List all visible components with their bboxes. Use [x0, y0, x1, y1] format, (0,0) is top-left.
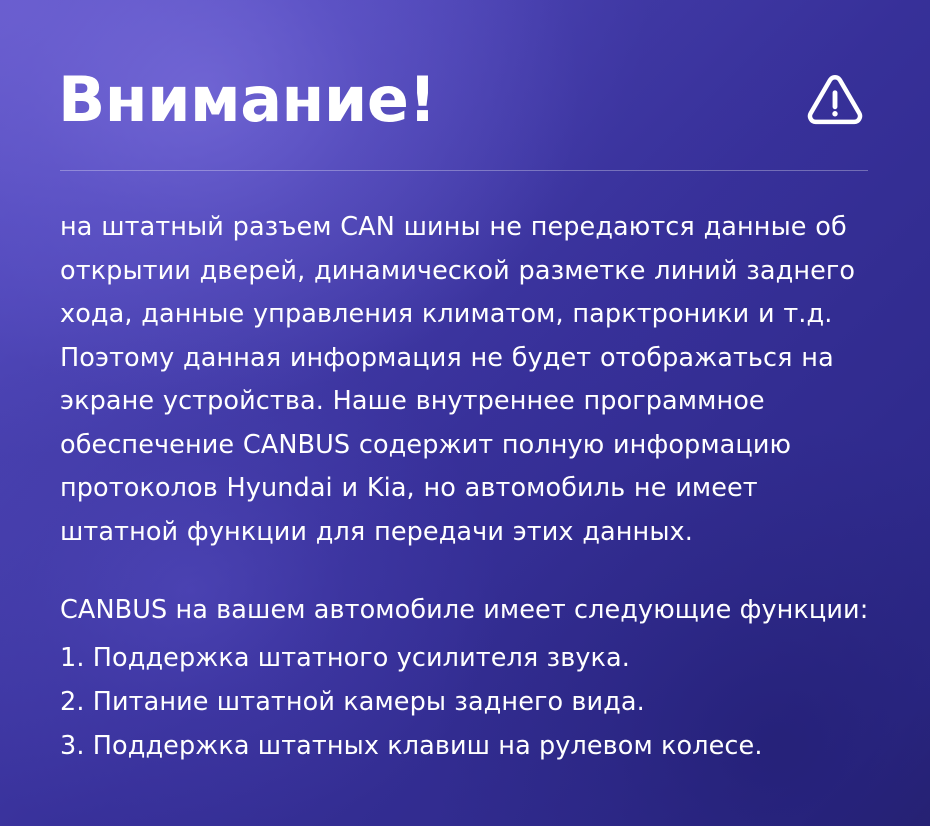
page-title: Внимание! — [58, 64, 436, 136]
warning-triangle-icon — [804, 69, 866, 131]
list-item: 3. Поддержка штатных клавиш на рулевом к… — [60, 724, 880, 768]
features-intro: CANBUS на вашем автомобиле имеет следующ… — [60, 588, 880, 632]
header-divider — [60, 170, 868, 171]
list-item: 2. Питание штатной камеры заднего вида. — [60, 680, 880, 724]
features-block: CANBUS на вашем автомобиле имеет следующ… — [60, 588, 880, 768]
banner-content: Внимание! на штатный разъем CAN шины не … — [0, 0, 930, 826]
body-text-block: на штатный разъем CAN шины не передаются… — [60, 206, 880, 554]
list-item: 1. Поддержка штатного усилителя звука. — [60, 636, 880, 680]
warning-banner: Внимание! на штатный разъем CAN шины не … — [0, 0, 930, 826]
warning-paragraph: на штатный разъем CAN шины не передаются… — [60, 206, 880, 554]
features-list: 1. Поддержка штатного усилителя звука. 2… — [60, 636, 880, 768]
banner-header: Внимание! — [58, 52, 872, 148]
